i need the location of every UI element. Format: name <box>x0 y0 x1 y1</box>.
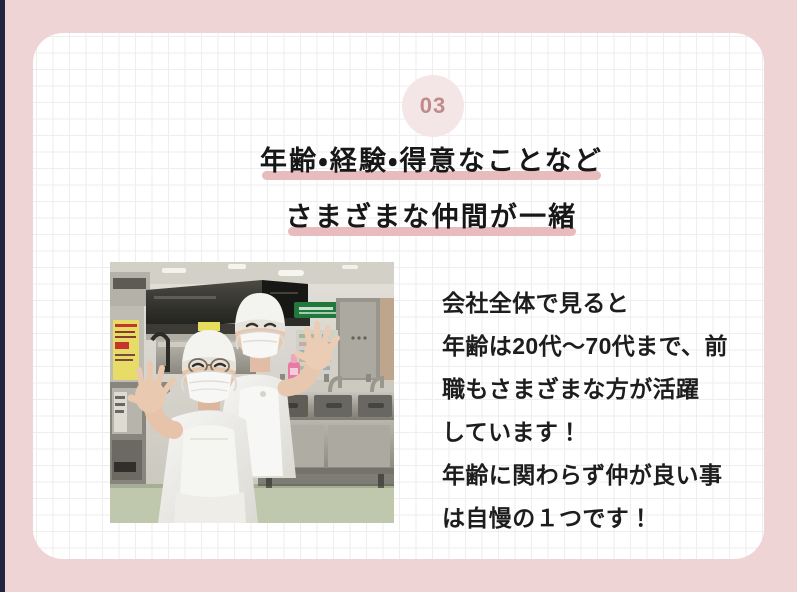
heading-line-1: 年齢・経験・得意なことなど <box>33 145 764 179</box>
section-number-text: 03 <box>420 95 446 117</box>
body-line-4: しています！ <box>442 411 764 454</box>
body-line-1: 会社全体で見ると <box>442 282 764 325</box>
body-copy: 会社全体で見ると 年齢は20代〜70代まで、前 職もさまざまな方が活躍 していま… <box>442 282 764 540</box>
body-line-6: は自慢の１つです！ <box>442 497 764 540</box>
left-edge-strip <box>0 0 5 592</box>
body-line-2: 年齢は20代〜70代まで、前 <box>442 325 764 368</box>
body-line-5: 年齢に関わらず仲が良い事 <box>442 454 764 497</box>
heading-2-text: さまざまな仲間が一緒 <box>286 202 578 232</box>
heading-1-text: 年齢・経験・得意なことなど <box>260 146 603 176</box>
heading-1-wrap: 年齢・経験・得意なことなど <box>260 145 603 179</box>
grid-paper-card: 03 年齢・経験・得意なことなど さまざまな仲間が一緒 <box>33 33 764 559</box>
heading-line-2: さまざまな仲間が一緒 <box>33 201 764 235</box>
staff-photo-illustration <box>110 262 394 523</box>
slide-root: 03 年齢・経験・得意なことなど さまざまな仲間が一緒 <box>0 0 797 592</box>
section-number-badge: 03 <box>402 75 464 137</box>
heading-2-wrap: さまざまな仲間が一緒 <box>286 201 578 235</box>
body-line-3: 職もさまざまな方が活躍 <box>442 368 764 411</box>
staff-photo <box>110 262 394 523</box>
